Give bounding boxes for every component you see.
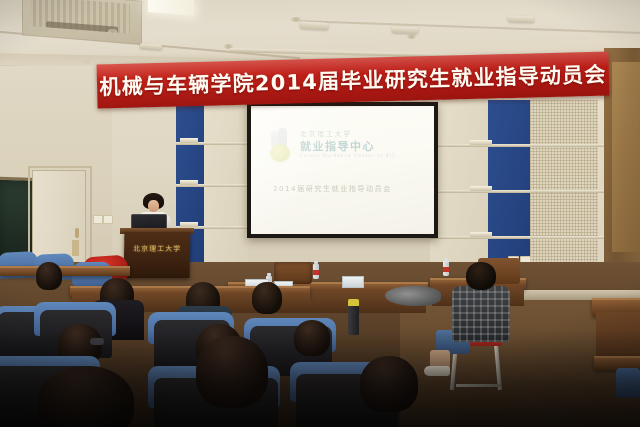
- panel-clip: [470, 232, 492, 237]
- ceiling-sprinkler-icon: [108, 29, 117, 34]
- door-lock-plate: [72, 240, 79, 256]
- panel-clip: [470, 140, 492, 145]
- eyeglasses-icon: [90, 338, 104, 345]
- chair-crossbar: [456, 384, 500, 387]
- audience-head: [38, 366, 134, 427]
- wood-column-panel: [612, 62, 640, 252]
- ceiling-fixture: [300, 21, 328, 29]
- ceiling-fixture: [508, 16, 534, 23]
- door-handle-icon[interactable]: [75, 228, 79, 238]
- thermos-flask: [348, 305, 359, 335]
- panel-divider: [430, 144, 608, 147]
- panel-clip: [180, 138, 198, 143]
- audience-head: [36, 262, 62, 290]
- wall-outlet: [93, 215, 103, 224]
- ceiling-fixture: [392, 27, 418, 34]
- panel-clip: [180, 180, 198, 185]
- side-chair[interactable]: [616, 368, 640, 398]
- lecture-hall-photo: 北京理工大学 就业指导中心 Career Guidance Center of …: [0, 0, 640, 427]
- man-shoe: [424, 366, 450, 376]
- audience-head: [360, 356, 418, 412]
- podium-label: 北京理工大学: [124, 244, 190, 254]
- audience-desk: [0, 266, 130, 276]
- wall-outlet: [103, 215, 113, 224]
- water-bottle: [443, 261, 449, 276]
- tissue-box: [342, 276, 364, 288]
- audience-head: [196, 336, 268, 408]
- projection-screen: 北京理工大学 就业指导中心 Career Guidance Center of …: [247, 102, 438, 238]
- panel-divider: [430, 190, 608, 193]
- panel-divider: [430, 236, 608, 239]
- ceiling-sprinkler-icon: [291, 17, 301, 22]
- panel-clip: [180, 222, 198, 227]
- screen-surface: 北京理工大学 就业指导中心 Career Guidance Center of …: [251, 106, 434, 234]
- thermos-cap: [348, 299, 359, 306]
- man-plaid-shirt: [452, 286, 510, 342]
- panel-clip: [470, 186, 492, 191]
- audience-head: [252, 282, 282, 314]
- screen-glare: [251, 106, 434, 234]
- podium: 北京理工大学: [124, 232, 191, 278]
- ceiling-sprinkler-icon: [407, 34, 416, 39]
- speaker-face: [148, 200, 159, 212]
- audience-head: [294, 320, 330, 356]
- grey-jacket: [385, 286, 441, 306]
- man-head: [466, 262, 496, 290]
- water-bottle: [313, 264, 319, 279]
